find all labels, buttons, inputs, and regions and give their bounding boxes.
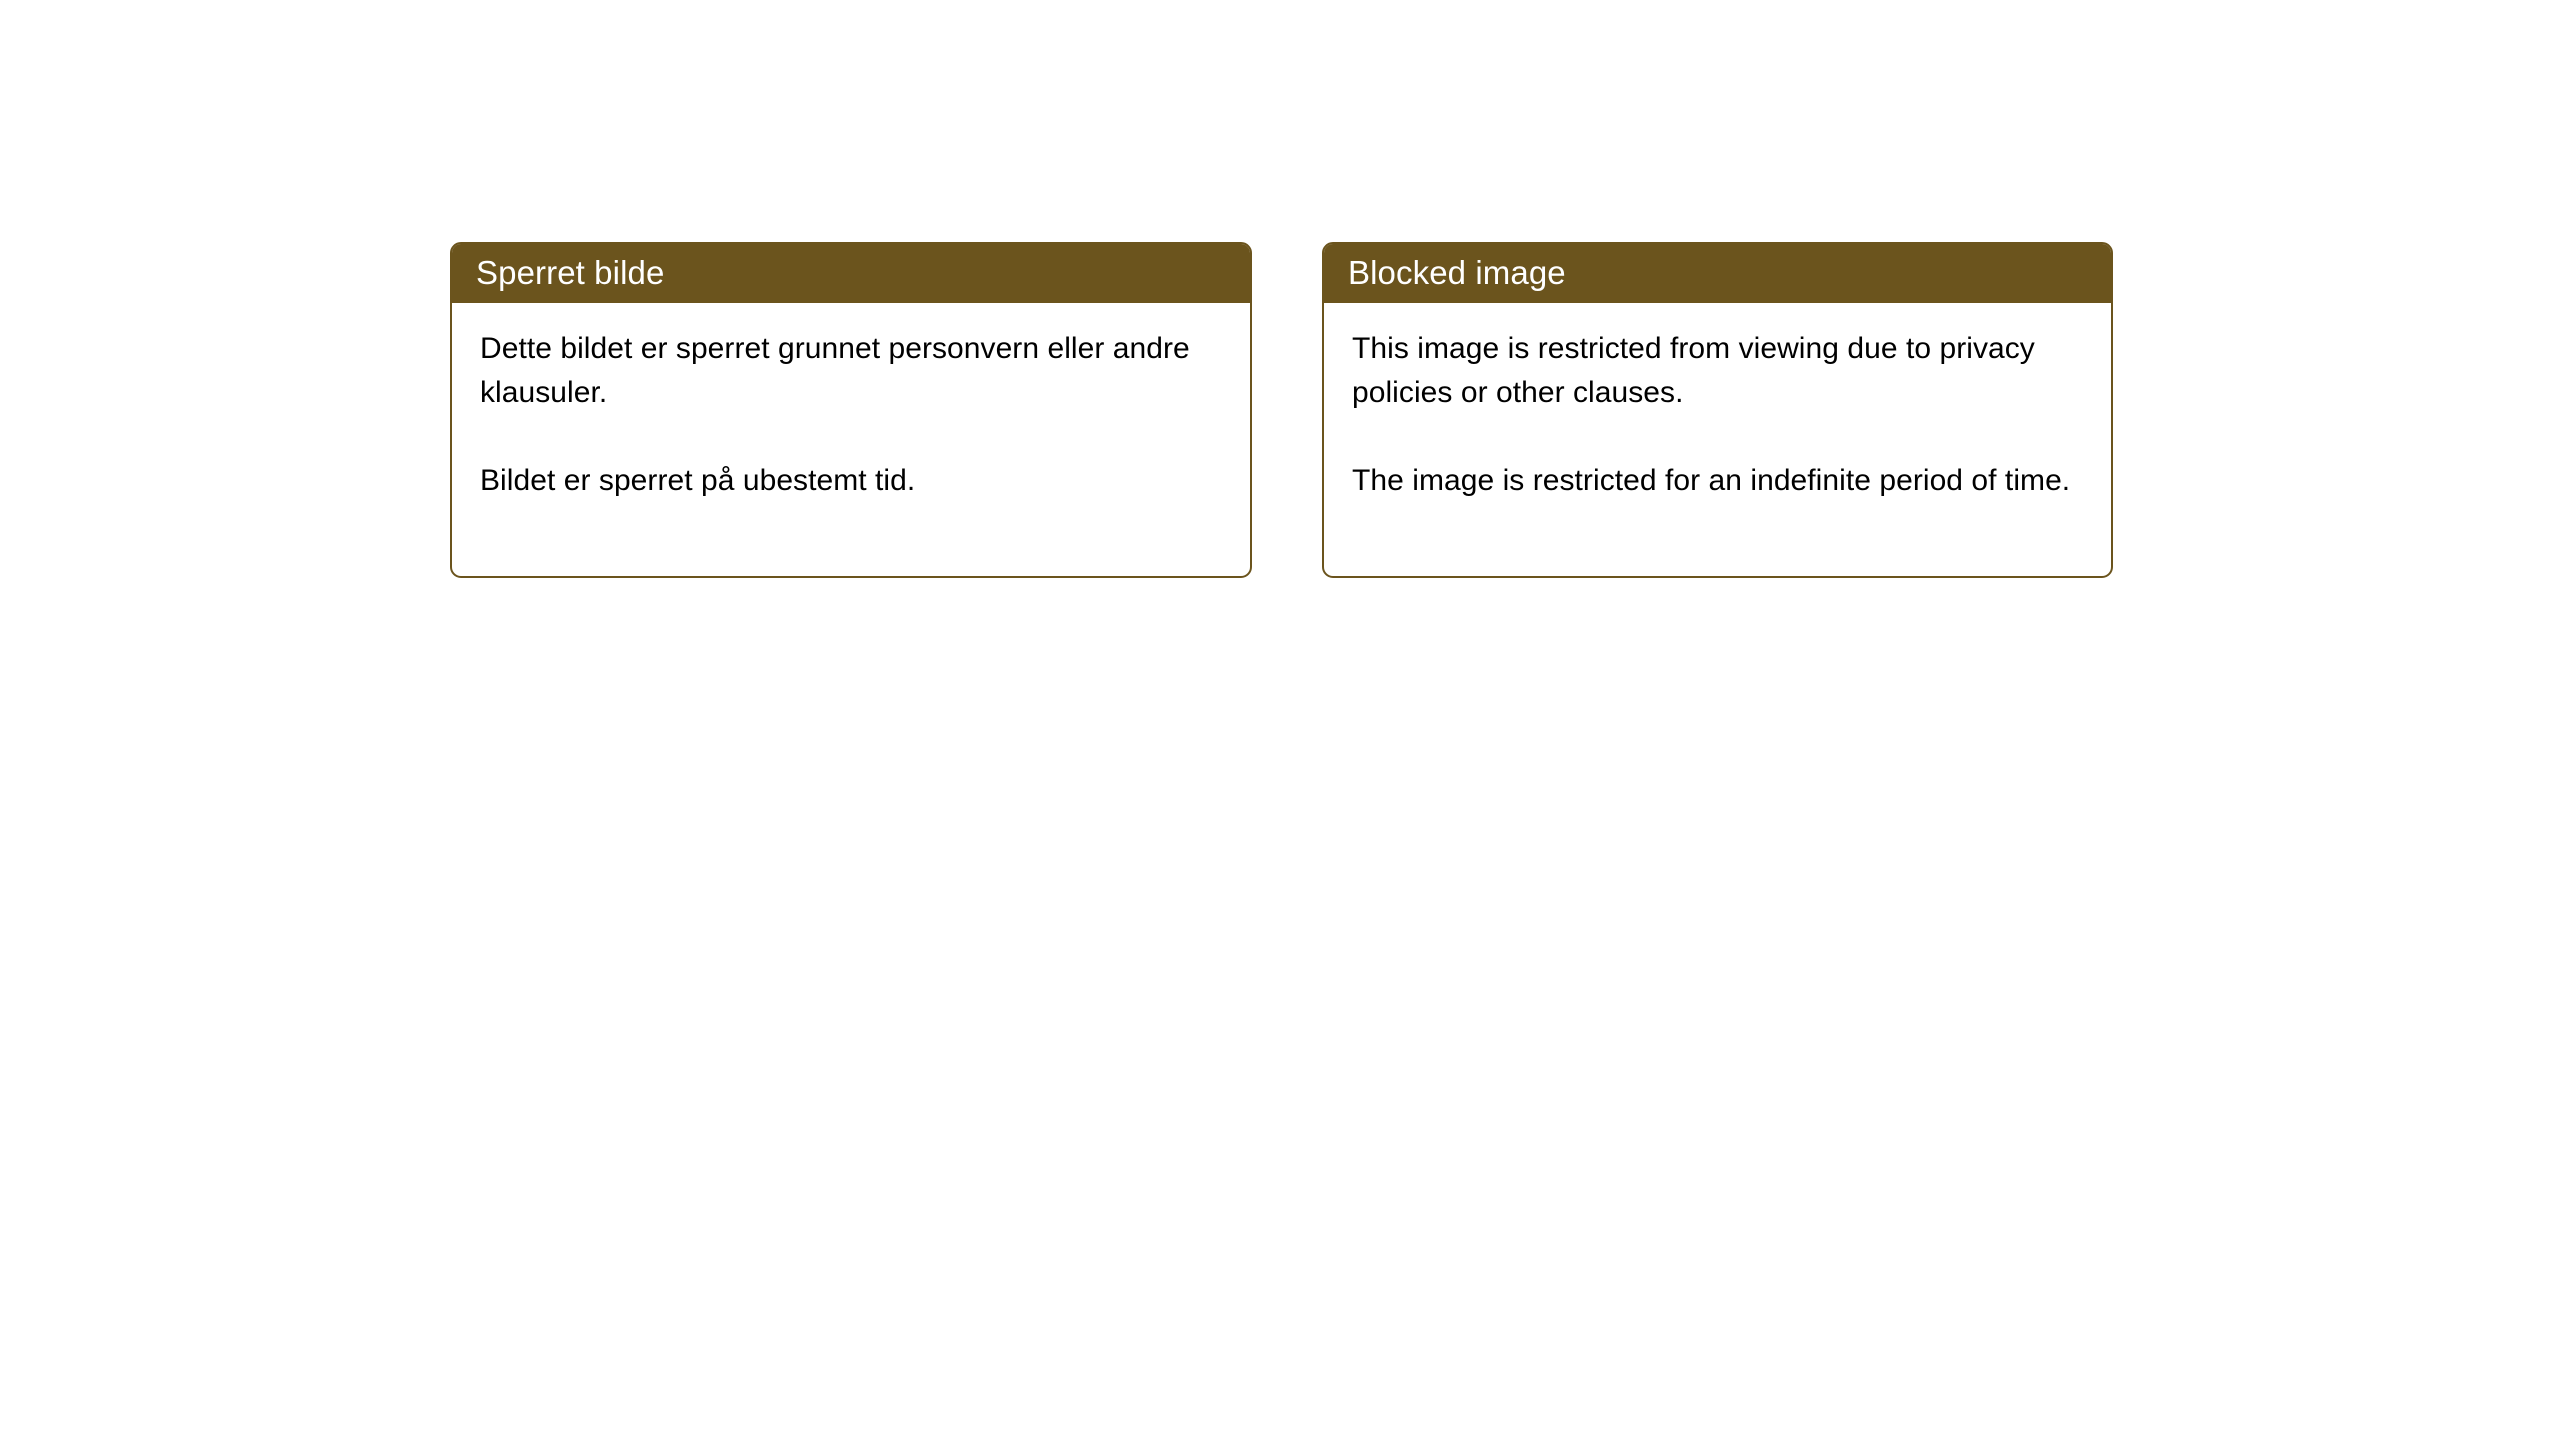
card-paragraph-duration-english: The image is restricted for an indefinit… — [1352, 459, 2087, 503]
card-body-english: This image is restricted from viewing du… — [1324, 303, 2111, 576]
card-paragraph-reason-english: This image is restricted from viewing du… — [1352, 327, 2087, 415]
card-header-english: Blocked image — [1322, 242, 2113, 303]
card-header-norwegian: Sperret bilde — [450, 242, 1252, 303]
page-root: Sperret bilde Dette bildet er sperret gr… — [0, 0, 2560, 1440]
blocked-image-card-norwegian: Sperret bilde Dette bildet er sperret gr… — [450, 242, 1252, 578]
card-title-english: Blocked image — [1348, 254, 1566, 292]
card-title-norwegian: Sperret bilde — [476, 254, 664, 292]
card-paragraph-reason-norwegian: Dette bildet er sperret grunnet personve… — [480, 327, 1226, 415]
blocked-image-card-english: Blocked image This image is restricted f… — [1322, 242, 2113, 578]
card-body-norwegian: Dette bildet er sperret grunnet personve… — [452, 303, 1250, 576]
card-paragraph-duration-norwegian: Bildet er sperret på ubestemt tid. — [480, 459, 1226, 503]
blocked-image-notice-group: Sperret bilde Dette bildet er sperret gr… — [450, 242, 2113, 578]
